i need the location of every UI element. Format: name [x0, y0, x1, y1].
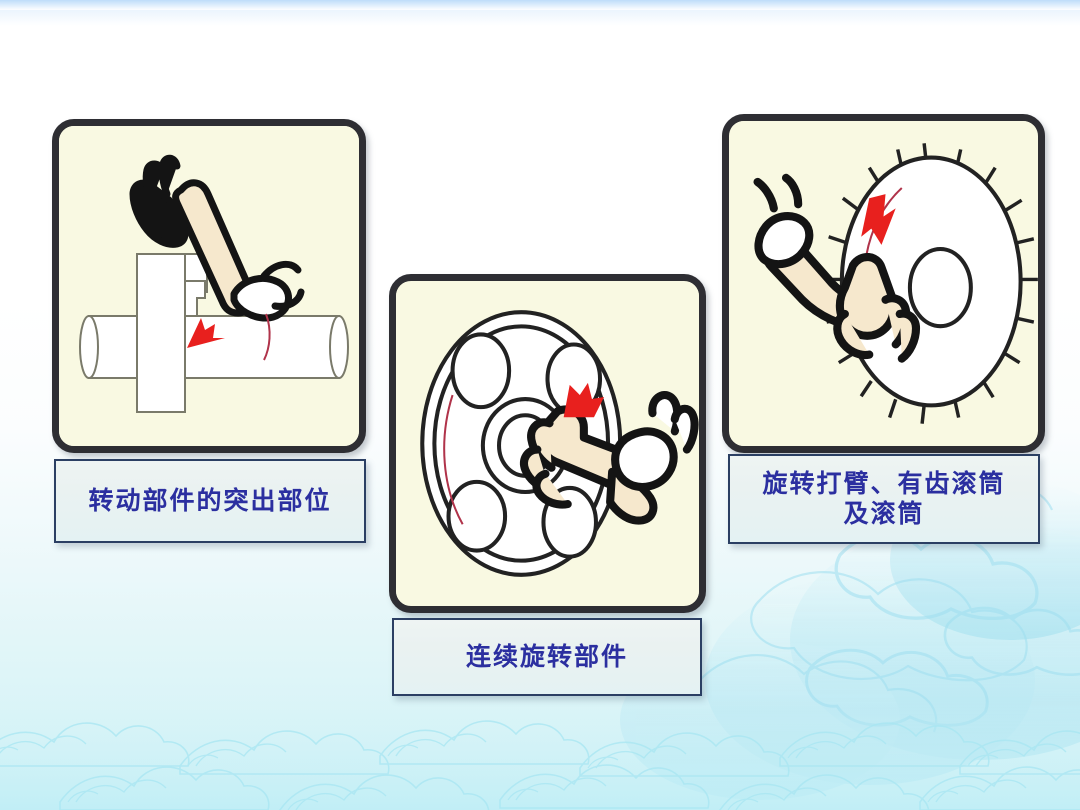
toothed-drum-illustration — [729, 121, 1038, 446]
caption-line: 旋转打臂、有齿滚筒 — [762, 469, 1005, 500]
illustration-panel-toothed-drum[interactable] — [722, 114, 1045, 453]
rotating-shaft-illustration — [59, 126, 359, 446]
illustration-panel-rotating-flywheel[interactable] — [389, 274, 706, 613]
caption-rotating-flywheel[interactable]: 连续旋转部件 — [392, 618, 702, 696]
wave-motif — [0, 721, 1080, 810]
illustration-panel-rotating-shaft[interactable] — [52, 119, 366, 453]
caption-rotating-shaft[interactable]: 转动部件的突出部位 — [54, 459, 366, 543]
flywheel-illustration — [396, 281, 699, 606]
caption-line: 转动部件的突出部位 — [88, 486, 331, 517]
slide-canvas: 转动部件的突出部位 连续旋转部件 旋转打臂、有齿滚筒 及滚筒 — [0, 0, 1080, 810]
top-accent-band — [0, 0, 1080, 10]
caption-toothed-drum[interactable]: 旋转打臂、有齿滚筒 及滚筒 — [728, 454, 1040, 544]
caption-line: 及滚筒 — [762, 499, 1005, 530]
caption-line: 连续旋转部件 — [466, 642, 628, 673]
